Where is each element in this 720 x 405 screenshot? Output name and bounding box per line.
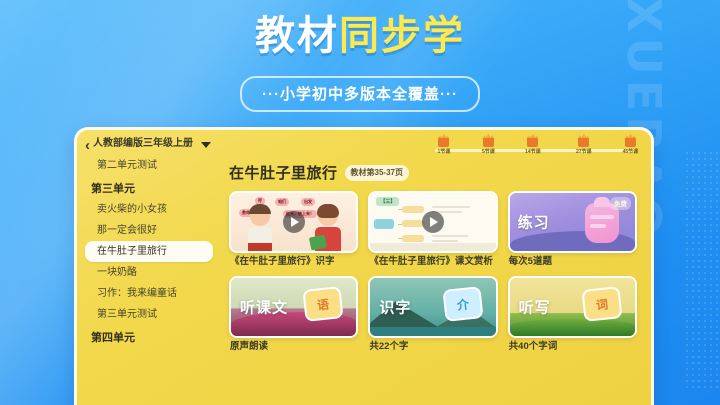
main-panel: ‹ 人教部编版三年级上册 第二单元测试 第三单元 卖火柴的小女孩 那一定会很好 … [74, 127, 654, 405]
lesson-card-grid: 哼 咱们 出发 救命啊 红头，快上来！ [225, 191, 639, 353]
card-thumbnail[interactable]: 【三】 [368, 191, 497, 253]
card-caption: 《在牛肚子里旅行》识字 [229, 256, 358, 268]
medal-icon [438, 137, 449, 147]
slide-text-line [432, 235, 468, 237]
character-girl [312, 207, 344, 251]
card-literacy[interactable]: 介 识字 共22个字 [368, 276, 497, 353]
milestone-label-4: 45节课 [613, 149, 647, 156]
field-shape [510, 319, 635, 336]
book-name-label: 人教部编版三年级上册 [93, 138, 198, 150]
book-selector[interactable]: ‹ 人教部编版三年级上册 [85, 138, 213, 153]
milestone-label-2: 14节课 [516, 149, 550, 156]
slide-connector [398, 238, 402, 239]
card-caption: 共22个字 [368, 341, 497, 353]
app-root: XUEBAO 教材同步学 ···小学初中多版本全覆盖··· ‹ 人教部编版三年级… [0, 0, 720, 405]
milestone-label-3: 27节课 [567, 149, 601, 156]
card-thumbnail[interactable]: 词 听写 [508, 276, 637, 338]
card-thumbnail[interactable]: 语 听课文 [229, 276, 358, 338]
character-tile-icon: 词 [581, 286, 622, 322]
slide-connector [398, 209, 402, 210]
progress-milestones: 1节课 5节课 14节课 27节课 45节课 [429, 136, 641, 166]
card-listen-text[interactable]: 语 听课文 原声朗读 [229, 276, 358, 353]
card-shizi-video[interactable]: 哼 咱们 出发 救命啊 红头，快上来！ [229, 191, 358, 268]
card-dictation[interactable]: 词 听写 共40个字词 [508, 276, 637, 353]
page-title-part1: 教材 [255, 14, 339, 58]
card-kewen-shangxi-video[interactable]: 【三】 [368, 191, 497, 268]
lesson-title: 在牛肚子里旅行 [229, 162, 338, 183]
play-icon[interactable] [283, 211, 305, 233]
slide-tag: 【三】 [376, 197, 399, 206]
page-title: 教材同步学 [0, 16, 720, 56]
slide-text-line [432, 206, 470, 208]
sidebar-item-7[interactable]: 第三单元测试 [85, 304, 213, 325]
milestone-3: 27节课 [567, 136, 601, 156]
slide-footer [370, 243, 495, 251]
card-caption: 原声朗读 [229, 341, 358, 353]
sidebar-item-6[interactable]: 习作：我来编童话 [85, 283, 213, 304]
milestone-label-0: 1节课 [427, 149, 461, 156]
bubble-3: 出发 [301, 198, 315, 206]
content-area: 1节课 5节课 14节课 27节课 45节课 [219, 130, 651, 405]
free-badge: 免费 [610, 197, 631, 210]
slide-root-node [374, 219, 394, 229]
card-practice[interactable]: 练习 免费 每次5道题 [508, 191, 637, 268]
slide-node [402, 235, 424, 242]
page-subtitle: ···小学初中多版本全覆盖··· [240, 76, 480, 112]
card-thumbnail[interactable]: 介 识字 [368, 276, 497, 338]
chevron-down-icon[interactable] [201, 142, 211, 148]
milestone-2: 14节课 [516, 136, 550, 156]
bubble-2: 咱们 [275, 198, 289, 206]
sidebar-item-4[interactable]: 在牛肚子里旅行 [85, 241, 213, 262]
textbook-page-badge: 教材第35-37页 [345, 165, 409, 181]
sidebar: ‹ 人教部编版三年级上册 第二单元测试 第三单元 卖火柴的小女孩 那一定会很好 … [77, 130, 219, 405]
medal-icon [578, 137, 589, 147]
character-tile-icon: 介 [442, 286, 483, 322]
medal-icon [527, 137, 538, 147]
character-boy [245, 207, 275, 251]
sidebar-item-2[interactable]: 卖火柴的小女孩 [85, 199, 213, 220]
sidebar-item-8[interactable]: 第四单元 [85, 325, 213, 348]
ground-shape [370, 327, 495, 336]
card-overlay-label: 练习 [518, 212, 550, 233]
play-icon[interactable] [422, 211, 444, 233]
slide-connector [398, 224, 402, 225]
sidebar-item-0[interactable]: 第二单元测试 [85, 155, 213, 176]
watermark-dot-pattern [684, 150, 720, 390]
milestone-label-1: 5节课 [471, 149, 505, 156]
slide-node [402, 206, 424, 213]
sidebar-item-1[interactable]: 第三单元 [85, 176, 213, 199]
milestone-4: 45节课 [613, 136, 647, 156]
card-overlay-label: 听写 [519, 297, 551, 318]
medal-icon [483, 137, 494, 147]
card-caption: 《在牛肚子里旅行》课文赏析 [368, 256, 497, 268]
page-title-part2: 同步学 [339, 14, 465, 58]
back-chevron-icon[interactable]: ‹ [85, 138, 90, 153]
medal-icon [625, 137, 636, 147]
card-thumbnail[interactable]: 练习 免费 [508, 191, 637, 253]
card-overlay-label: 识字 [379, 297, 411, 318]
lesson-nav-list[interactable]: 第二单元测试 第三单元 卖火柴的小女孩 那一定会很好 在牛肚子里旅行 一块奶酪 … [85, 155, 213, 348]
milestone-0: 1节课 [427, 136, 461, 156]
character-tile-icon: 语 [303, 286, 344, 322]
card-caption: 每次5道题 [508, 256, 637, 268]
card-thumbnail[interactable]: 哼 咱们 出发 救命啊 红头，快上来！ [229, 191, 358, 253]
milestone-1: 5节课 [471, 136, 505, 156]
slide-text-line [432, 240, 458, 242]
sidebar-item-5[interactable]: 一块奶酪 [85, 262, 213, 283]
card-caption: 共40个字词 [508, 341, 637, 353]
sidebar-item-3[interactable]: 那一定会很好 [85, 220, 213, 241]
card-overlay-label: 听课文 [240, 297, 288, 318]
